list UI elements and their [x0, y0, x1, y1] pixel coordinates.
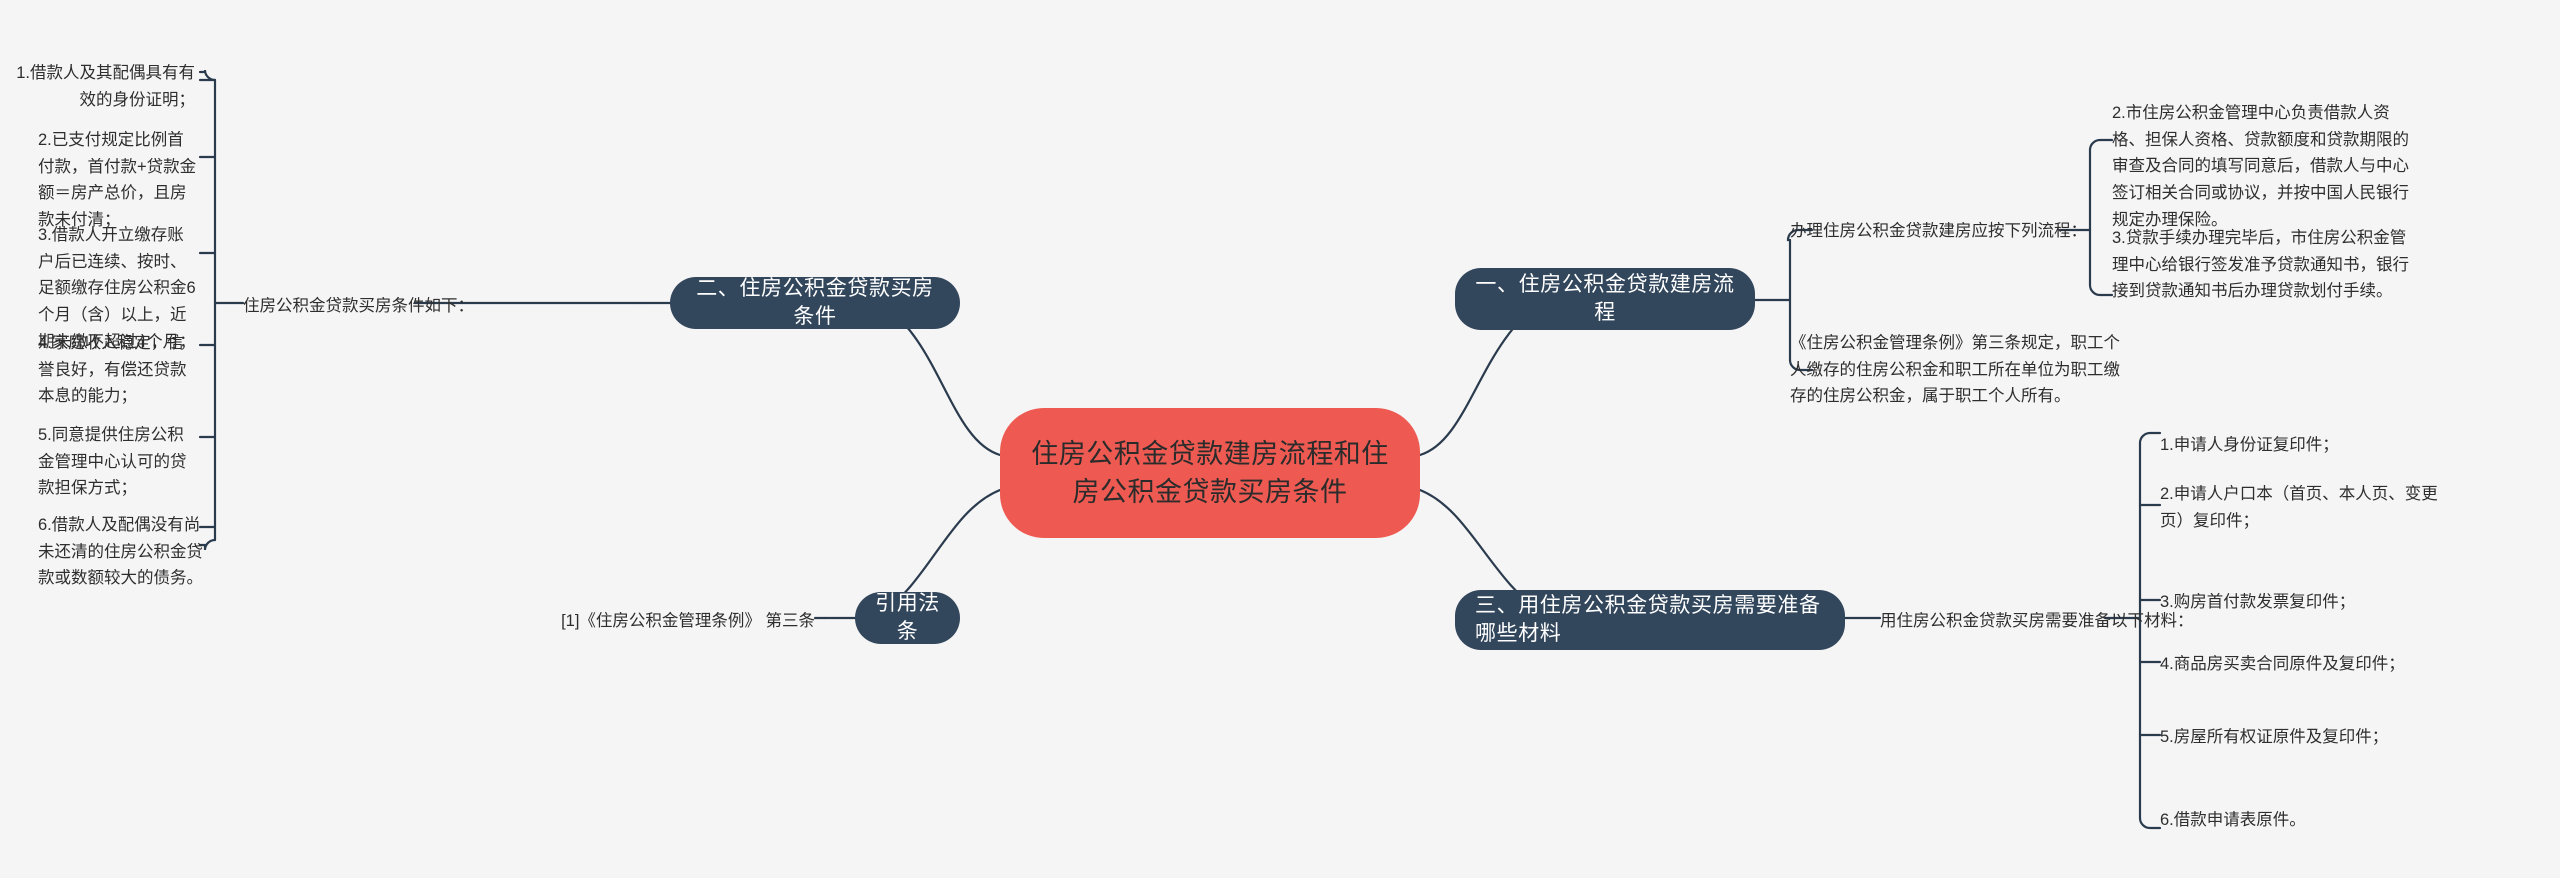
leaf-condition-6-text: 6.借款人及配偶没有尚未还清的住房公积金贷款或数额较大的债务。 — [38, 516, 203, 587]
connector-label-conditions-text: 住房公积金贷款买房条件如下： — [243, 297, 474, 315]
link-mat-leaf6 — [2140, 818, 2160, 828]
link-mat-leaf1 — [2140, 433, 2160, 443]
link-cond-cap-top — [205, 70, 215, 80]
leaf-condition-5-text: 5.同意提供住房公积金管理中心认可的贷款担保方式； — [38, 426, 187, 497]
connector-label-process-text: 办理住房公积金贷款建房应按下列流程： — [1790, 222, 2087, 240]
leaf-process-2-text: 3.贷款手续办理完毕后，市住房公积金管理中心给银行签发准予贷款通知书，银行接到贷… — [2112, 229, 2409, 300]
branch-node-2[interactable]: 二、住房公积金贷款买房条件 — [670, 277, 960, 329]
leaf-material-2: 2.申请人户口本（首页、本人页、变更页）复印件； — [2160, 481, 2450, 534]
leaf-condition-6: 6.借款人及配偶没有尚未还清的住房公积金贷款或数额较大的债务。 — [38, 512, 203, 592]
leaf-condition-4-text: 4.家庭收入稳定，信誉良好，有偿还贷款本息的能力； — [38, 334, 187, 405]
leaf-material-6: 6.借款申请表原件。 — [2160, 807, 2450, 834]
leaf-condition-2: 2.已支付规定比例首付款，首付款+贷款金额＝房产总价，且房款未付清； — [38, 127, 198, 234]
connector-label-materials: 用住房公积金贷款买房需要准备以下材料： — [1880, 608, 2140, 634]
leaf-process-2: 3.贷款手续办理完毕后，市住房公积金管理中心给银行签发准予贷款通知书，银行接到贷… — [2112, 225, 2412, 305]
leaf-material-5-text: 5.房屋所有权证原件及复印件； — [2160, 728, 2388, 746]
mindmap-canvas: 住房公积金贷款建房流程和住房公积金贷款买房条件 一、住房公积金贷款建房流程 办理… — [0, 0, 2560, 878]
leaf-material-6-text: 6.借款申请表原件。 — [2160, 811, 2306, 829]
connector-label-materials-text: 用住房公积金贷款买房需要准备以下材料： — [1880, 612, 2194, 630]
leaf-material-4-text: 4.商品房买卖合同原件及复印件； — [2160, 655, 2405, 673]
leaf-material-3-text: 3.购房首付款发票复印件； — [2160, 593, 2355, 611]
branch-node-1[interactable]: 一、住房公积金贷款建房流程 — [1455, 268, 1755, 330]
branch-node-4[interactable]: 引用法条 — [855, 592, 960, 644]
connector-label-process: 办理住房公积金贷款建房应按下列流程： — [1790, 218, 2060, 244]
leaf-material-1: 1.申请人身份证复印件； — [2160, 432, 2450, 459]
connector-label-regulation-text: 《住房公积金管理条例》第三条规定，职工个人缴存的住房公积金和职工所在单位为职工缴… — [1790, 334, 2120, 405]
link-process-leaf1 — [2090, 140, 2112, 150]
leaf-condition-2-text: 2.已支付规定比例首付款，首付款+贷款金额＝房产总价，且房款未付清； — [38, 131, 196, 229]
leaf-material-2-text: 2.申请人户口本（首页、本人页、变更页）复印件； — [2160, 485, 2438, 530]
branch-node-3[interactable]: 三、用住房公积金贷款买房需要准备哪些材料 — [1455, 590, 1845, 650]
leaf-material-4: 4.商品房买卖合同原件及复印件； — [2160, 651, 2450, 678]
leaf-condition-4: 4.家庭收入稳定，信誉良好，有偿还贷款本息的能力； — [38, 330, 198, 410]
root-node-label: 住房公积金贷款建房流程和住房公积金贷款买房条件 — [1022, 435, 1398, 512]
connector-label-conditions: 住房公积金贷款买房条件如下： — [243, 293, 643, 319]
branch-node-2-label: 二、住房公积金贷款买房条件 — [690, 275, 940, 332]
leaf-material-1-text: 1.申请人身份证复印件； — [2160, 436, 2339, 454]
leaf-condition-5: 5.同意提供住房公积金管理中心认可的贷款担保方式； — [38, 422, 198, 502]
leaf-material-3: 3.购房首付款发票复印件； — [2160, 589, 2450, 616]
root-node[interactable]: 住房公积金贷款建房流程和住房公积金贷款买房条件 — [1000, 408, 1420, 538]
leaf-process-1: 2.市住房公积金管理中心负责借款人资格、担保人资格、贷款额度和贷款期限的审查及合… — [2112, 100, 2412, 234]
connector-label-citation-text: [1]《住房公积金管理条例》 第三条 — [561, 612, 815, 630]
leaf-material-5: 5.房屋所有权证原件及复印件； — [2160, 724, 2450, 751]
link-cond-cap-bot — [205, 540, 215, 550]
leaf-process-1-text: 2.市住房公积金管理中心负责借款人资格、担保人资格、贷款额度和贷款期限的审查及合… — [2112, 104, 2409, 229]
branch-node-4-label: 引用法条 — [875, 590, 940, 647]
leaf-condition-1: 1.借款人及其配偶具有有效的身份证明； — [0, 60, 195, 113]
link-process-leaf2 — [2090, 285, 2112, 295]
leaf-condition-1-text: 1.借款人及其配偶具有有效的身份证明； — [16, 64, 195, 109]
branch-node-3-label: 三、用住房公积金贷款买房需要准备哪些材料 — [1475, 592, 1825, 649]
connector-label-citation: [1]《住房公积金管理条例》 第三条 — [555, 608, 815, 634]
branch-node-1-label: 一、住房公积金贷款建房流程 — [1475, 271, 1735, 328]
connector-label-regulation: 《住房公积金管理条例》第三条规定，职工个人缴存的住房公积金和职工所在单位为职工缴… — [1790, 330, 2120, 410]
link-cond-caps — [200, 72, 205, 545]
